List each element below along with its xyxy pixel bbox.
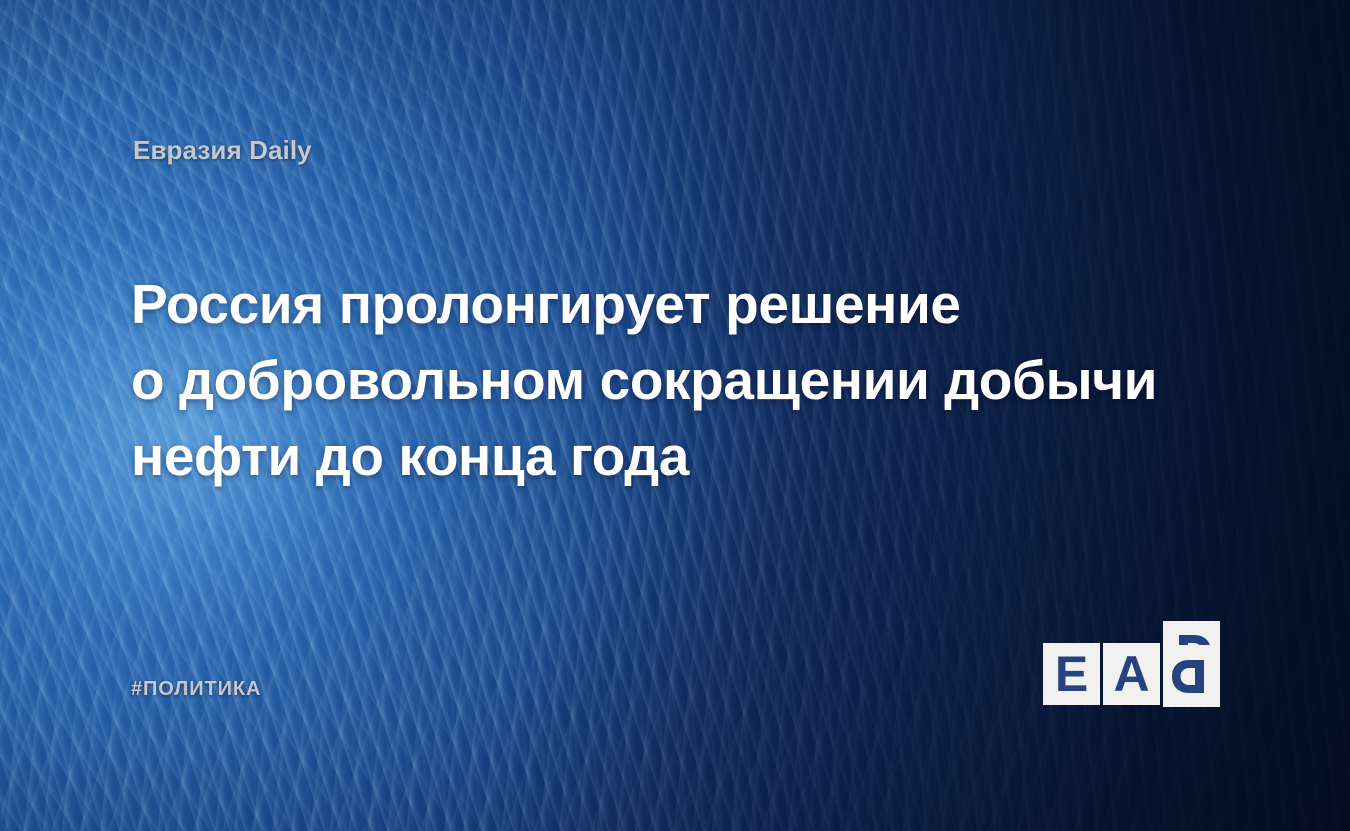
logo-tile-e: E — [1043, 643, 1100, 705]
headline-line-2: о добровольном сокращении добычи — [131, 342, 1201, 418]
page-title: Россия пролонгирует решение о добровольн… — [131, 266, 1201, 494]
letter-e-icon: E — [1043, 643, 1100, 705]
category-tag[interactable]: #ПОЛИТИКА — [131, 678, 261, 701]
logo-tile-a: A — [1103, 643, 1160, 705]
news-share-card: Евразия Daily Россия пролонгирует решени… — [0, 0, 1350, 831]
logo-tile-d-bottom — [1163, 645, 1220, 707]
headline-line-1: Россия пролонгирует решение — [131, 266, 1201, 342]
letter-a-icon: A — [1103, 643, 1160, 705]
brand-label: Евразия Daily — [133, 135, 312, 166]
card-content: Евразия Daily Россия пролонгирует решени… — [0, 0, 1350, 831]
letter-d-bottom-icon — [1163, 645, 1220, 707]
eadaily-logo[interactable]: E A — [1043, 621, 1223, 709]
headline-line-3: нефти до конца года — [131, 418, 1201, 494]
